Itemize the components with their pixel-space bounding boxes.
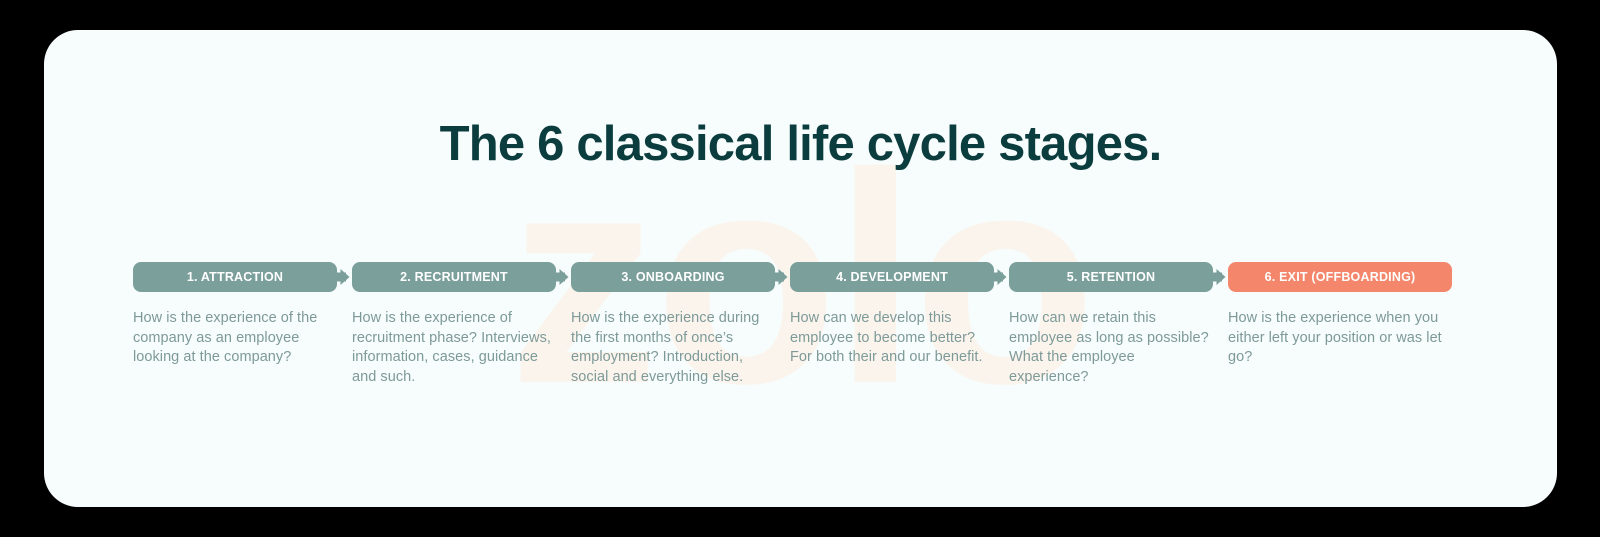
- stage-pill-4[interactable]: 4. DEVELOPMENT: [790, 262, 994, 292]
- page-title: The 6 classical life cycle stages.: [44, 116, 1557, 172]
- stage-description-3: How is the experience during the first m…: [571, 309, 775, 387]
- chevron-right-icon: [340, 269, 349, 285]
- stage-label-6: 6. EXIT (OFFBOARDING): [1265, 270, 1416, 284]
- stage-description-4: How can we develop this employee to beco…: [790, 309, 994, 368]
- stage-pill-6[interactable]: 6. EXIT (OFFBOARDING): [1228, 262, 1452, 292]
- stage-description-2: How is the experience of recruitment pha…: [352, 309, 556, 387]
- chevron-right-icon: [1216, 269, 1225, 285]
- stage-column-5: 5. RETENTION How can we retain this empl…: [1009, 262, 1213, 387]
- stage-label-5: 5. RETENTION: [1067, 270, 1156, 284]
- stage-column-4: 4. DEVELOPMENT How can we develop this e…: [790, 262, 994, 368]
- chevron-right-icon: [559, 269, 568, 285]
- lifecycle-stage-strip: 1. ATTRACTION How is the experience of t…: [133, 262, 1452, 387]
- stage-description-6: How is the experience when you either le…: [1228, 309, 1452, 368]
- stage-column-6: 6. EXIT (OFFBOARDING) How is the experie…: [1228, 262, 1452, 368]
- stage-column-1: 1. ATTRACTION How is the experience of t…: [133, 262, 337, 368]
- stage-connector-4: [994, 262, 1009, 292]
- stage-label-1: 1. ATTRACTION: [187, 270, 283, 284]
- stage-connector-5: [1213, 262, 1228, 292]
- stage-description-5: How can we retain this employee as long …: [1009, 309, 1213, 387]
- stage-pill-5[interactable]: 5. RETENTION: [1009, 262, 1213, 292]
- stage-label-4: 4. DEVELOPMENT: [836, 270, 948, 284]
- stage-column-2: 2. RECRUITMENT How is the experience of …: [352, 262, 556, 387]
- stage-connector-3: [775, 262, 790, 292]
- stage-pill-3[interactable]: 3. ONBOARDING: [571, 262, 775, 292]
- stage-connector-2: [556, 262, 571, 292]
- chevron-right-icon: [778, 269, 787, 285]
- stage-pill-1[interactable]: 1. ATTRACTION: [133, 262, 337, 292]
- stage-column-3: 3. ONBOARDING How is the experience duri…: [571, 262, 775, 387]
- stage-connector-1: [337, 262, 352, 292]
- stage-description-1: How is the experience of the company as …: [133, 309, 337, 368]
- stage-pill-2[interactable]: 2. RECRUITMENT: [352, 262, 556, 292]
- stage-label-2: 2. RECRUITMENT: [400, 270, 508, 284]
- chevron-right-icon: [997, 269, 1006, 285]
- stage-label-3: 3. ONBOARDING: [621, 270, 724, 284]
- infographic-card: zolo The 6 classical life cycle stages. …: [44, 30, 1557, 507]
